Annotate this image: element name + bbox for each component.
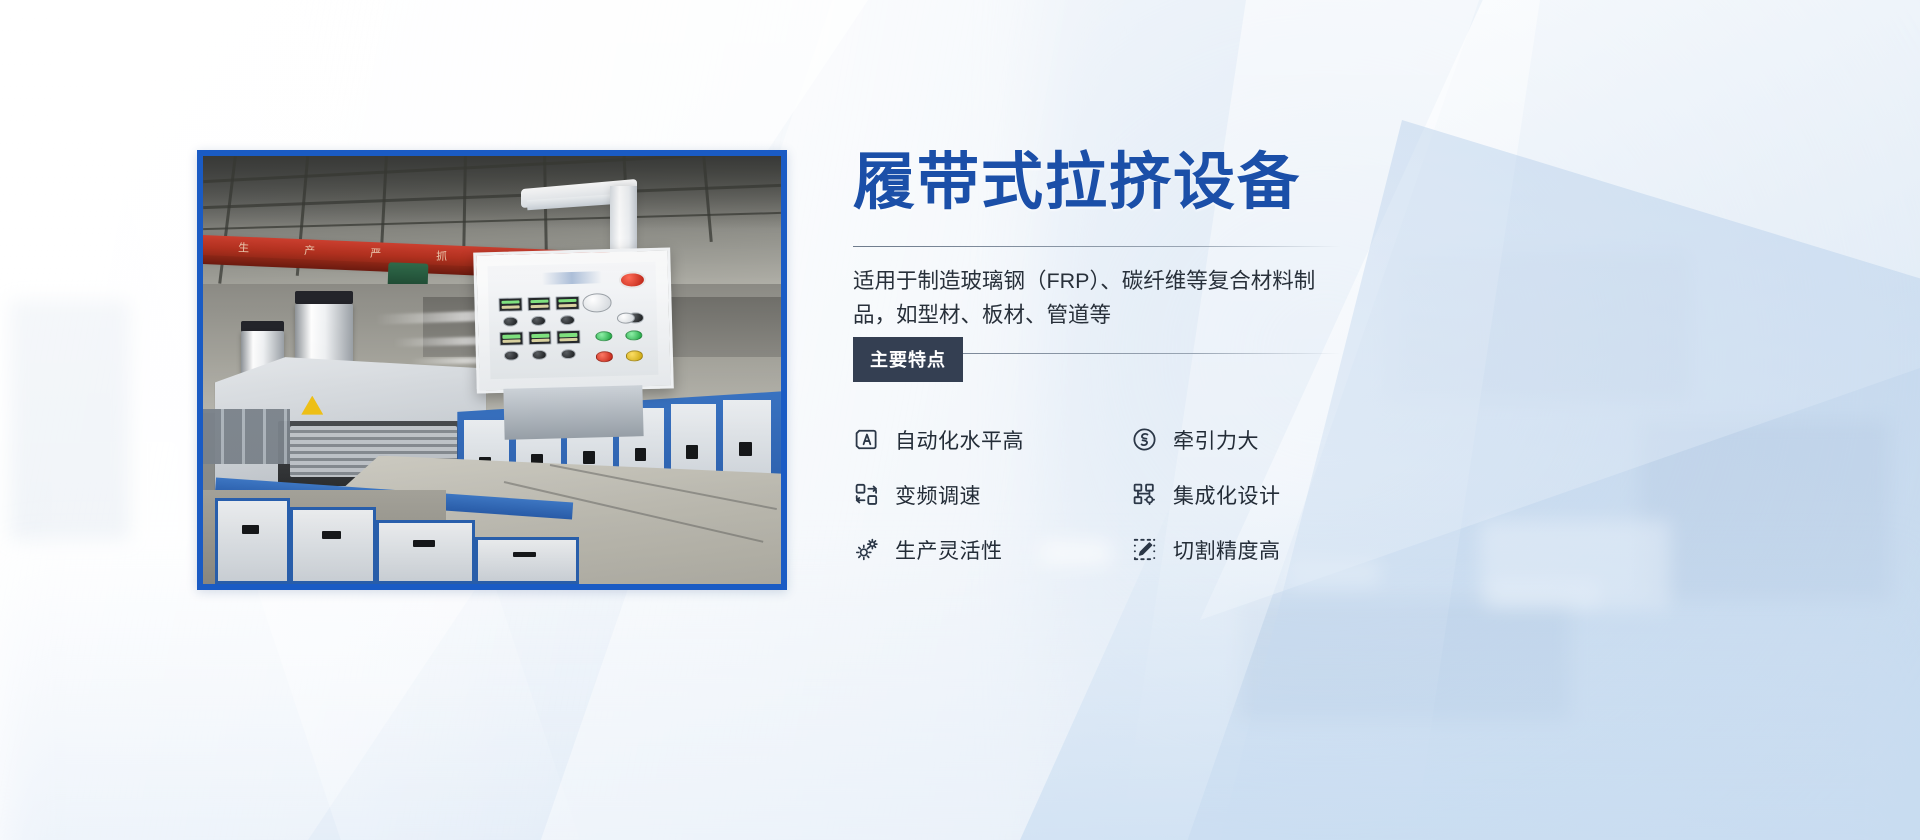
product-banner: 生 产 严 抓 质 量: [0, 0, 1920, 840]
feature-item-flexibility: 生产灵活性: [853, 535, 1131, 565]
photo-panel-stand: [503, 385, 643, 440]
feature-label: 集成化设计: [1173, 480, 1281, 510]
gears-flexibility-icon: [853, 536, 880, 563]
photo-knob: [560, 349, 575, 360]
feature-item-integrated: 集成化设计: [1131, 480, 1353, 510]
feature-item-cutting: 切割精度高: [1131, 535, 1353, 565]
photo-analog-gauge: [582, 294, 611, 313]
photo-emergency-stop: [619, 271, 646, 289]
feature-label: 变频调速: [895, 480, 981, 510]
product-photo-card: 生 产 严 抓 质 量: [197, 150, 787, 590]
photo-knob: [502, 317, 517, 328]
photo-indicator-green: [595, 331, 612, 342]
product-photo: 生 产 严 抓 质 量: [203, 156, 781, 584]
photo-front-cabinet: [215, 498, 290, 584]
feature-label: 牵引力大: [1173, 425, 1259, 455]
product-description: 适用于制造玻璃钢（FRP）、碳纤维等复合材料制品，如型材、板材、管道等: [853, 265, 1345, 333]
frequency-convert-icon: [853, 481, 880, 508]
automation-a-icon: [853, 426, 880, 453]
feature-item-traction: 牵引力大: [1131, 425, 1353, 455]
divider-top: [853, 246, 1341, 247]
integrated-design-icon: [1131, 481, 1158, 508]
photo-control-panel: [473, 248, 673, 394]
photo-indicator-yellow: [626, 351, 643, 362]
photo-cylinder-cap-2: [295, 291, 353, 304]
photo-digital-meter: [527, 296, 551, 311]
photo-knob: [559, 315, 574, 326]
photo-indicator-red: [596, 352, 613, 363]
photo-digital-meter: [555, 296, 579, 311]
photo-cylinder-cap-1: [241, 321, 284, 332]
photo-indicator-green: [625, 330, 642, 341]
status-badge: 主要特点: [853, 337, 963, 382]
traction-waves-icon: [1131, 426, 1158, 453]
photo-knob: [503, 351, 518, 362]
feature-list: 自动化水平高 牵引力大: [853, 425, 1353, 565]
photo-window-cabinets: [203, 409, 290, 465]
photo-front-cabinet: [475, 537, 579, 584]
photo-digital-meter: [528, 330, 552, 345]
photo-knob: [531, 316, 546, 327]
photo-digital-meter: [498, 297, 522, 312]
feature-item-automation: 自动化水平高: [853, 425, 1131, 455]
feature-label: 切割精度高: [1173, 535, 1281, 565]
photo-digital-meter: [556, 330, 580, 345]
feature-label: 生产灵活性: [895, 535, 1003, 565]
feature-item-frequency: 变频调速: [853, 480, 1131, 510]
page-title: 履带式拉挤设备: [853, 150, 1353, 216]
photo-knob: [532, 350, 547, 361]
cut-precision-pen-icon: [1131, 536, 1158, 563]
photo-front-cabinet: [290, 507, 377, 584]
photo-front-cabinet: [376, 520, 474, 584]
feature-label: 自动化水平高: [895, 425, 1024, 455]
photo-panel-logo: [541, 271, 602, 285]
photo-digital-meter: [499, 331, 523, 346]
banner-content: 履带式拉挤设备 适用于制造玻璃钢（FRP）、碳纤维等复合材料制品，如型材、板材、…: [853, 150, 1353, 565]
photo-control-panel-face: [488, 262, 659, 380]
